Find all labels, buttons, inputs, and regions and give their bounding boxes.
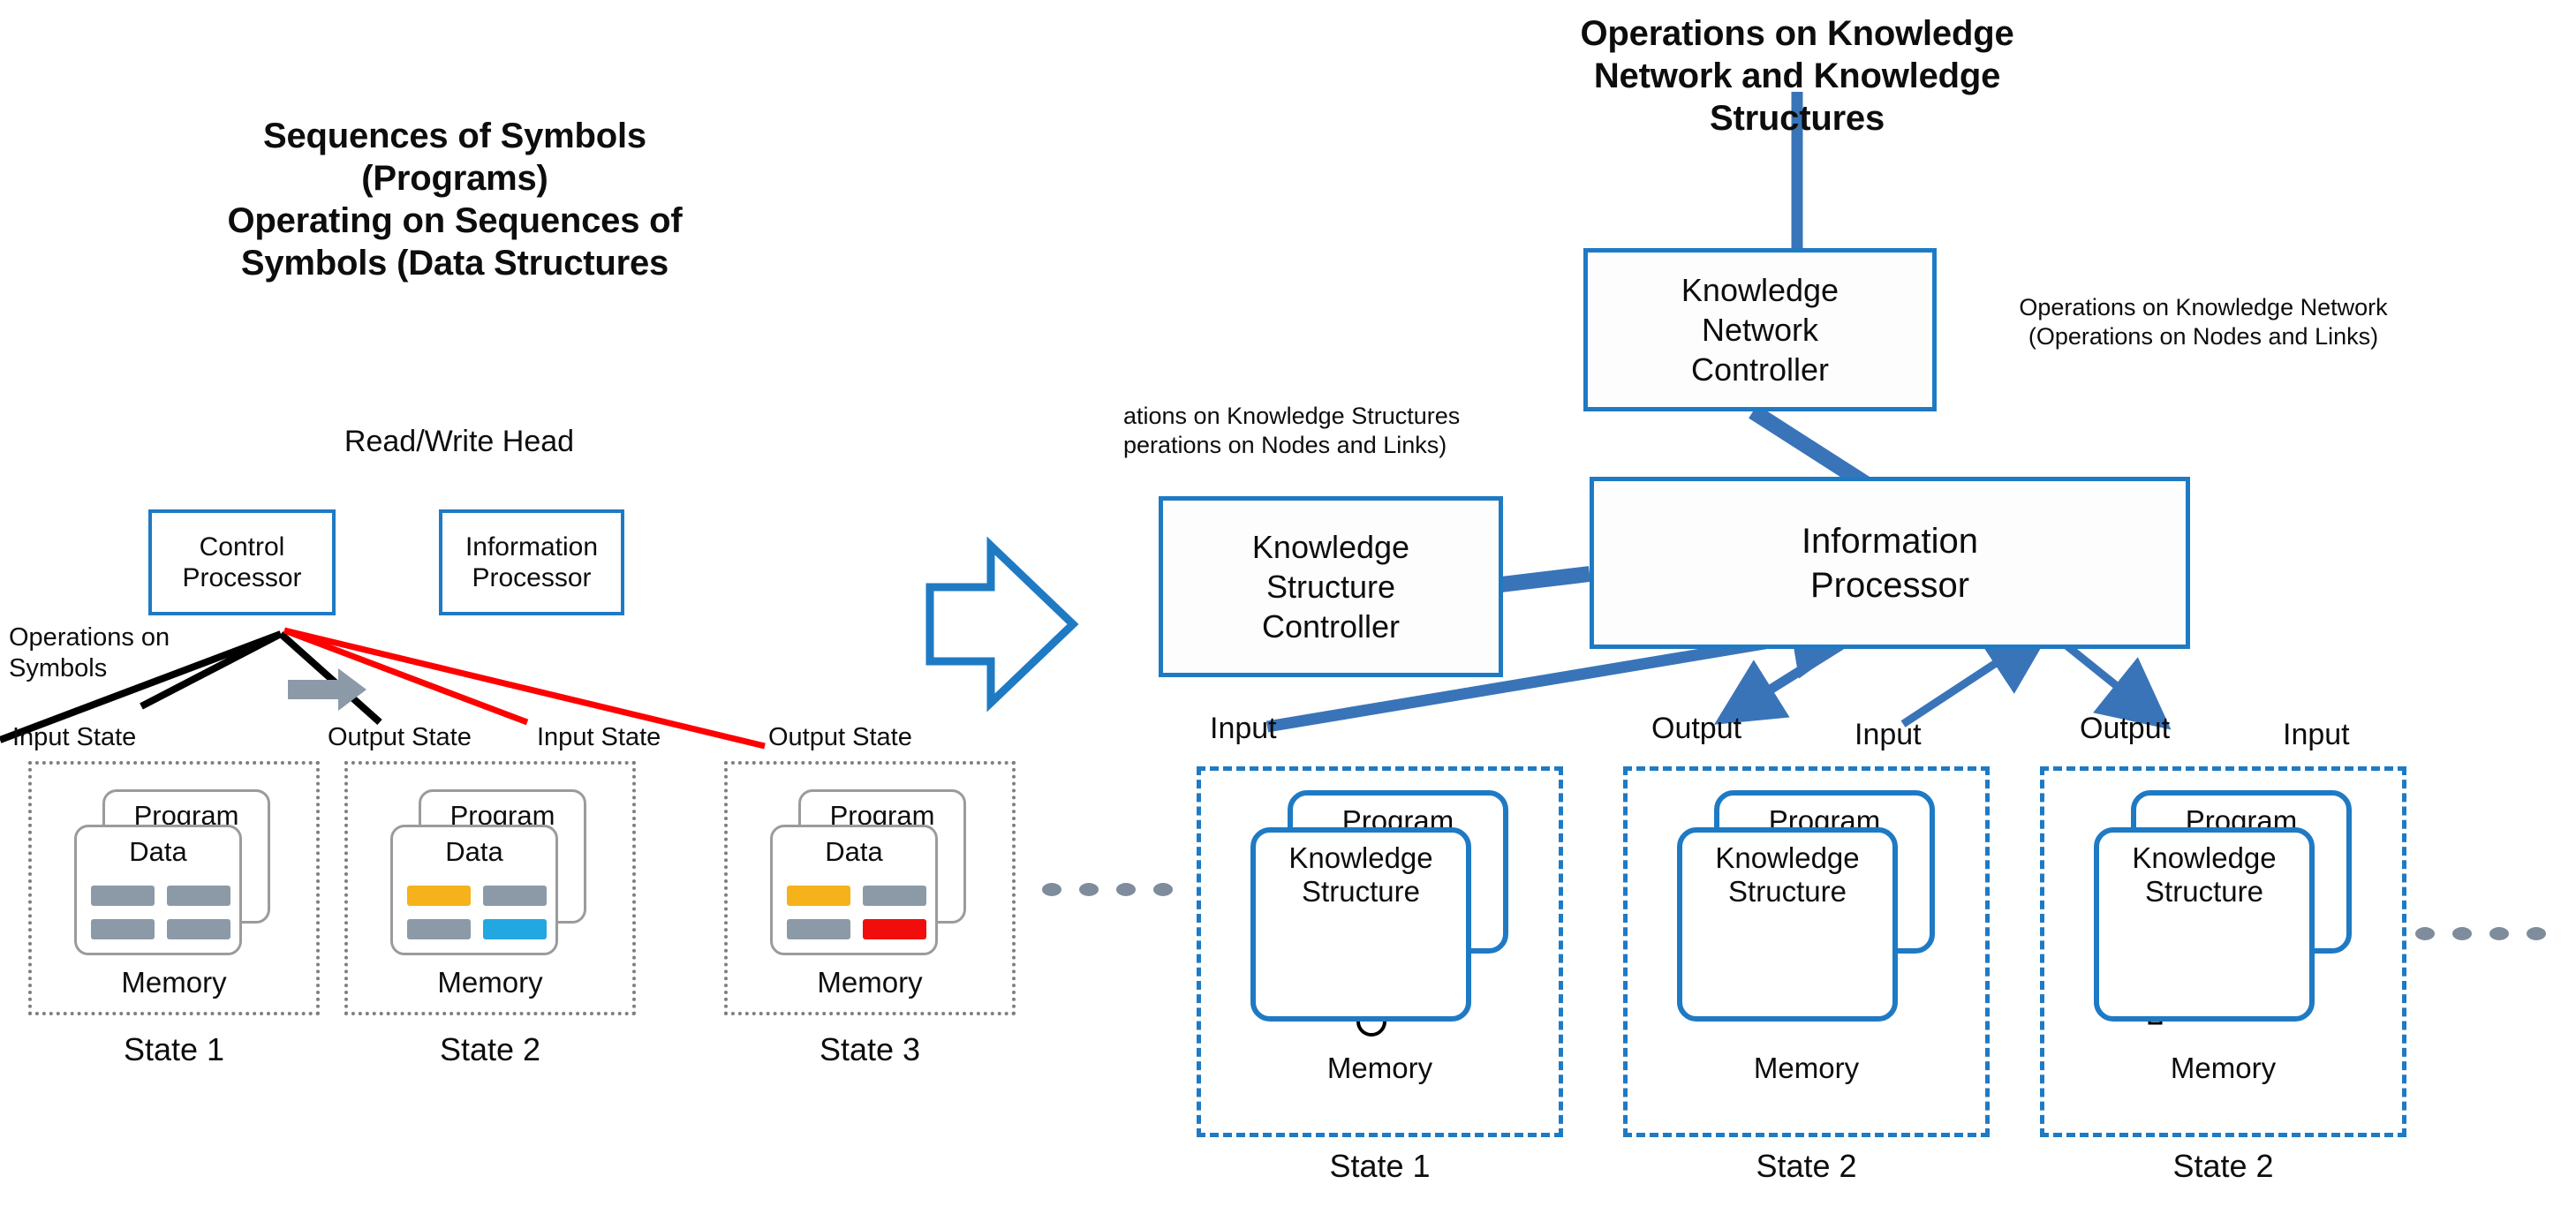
ksc-label-3: Controller [1252,607,1409,646]
diagram-canvas: Sequences of Symbols (Programs) Operatin… [0,0,2576,1214]
information-processor-label-1: Information [465,532,598,562]
left-title-line-1: Sequences of Symbols (Programs) [172,115,737,200]
right-state-box-1[interactable]: Program Knowledge Structure Memory [1197,766,1563,1137]
ellipsis-dot [1153,883,1173,896]
ops-symbols-line-2: Symbols [9,653,274,684]
ip-right-label-1: Information [1802,519,1978,563]
ellipsis-dot [2489,927,2509,940]
memory-label-1: Memory [32,966,316,999]
left-state-box-3[interactable]: Program Data Memory [724,761,1016,1015]
okn-line-2: (Operations on Nodes and Links) [1947,322,2459,351]
ops-symbols-line-1: Operations on [9,622,274,653]
ip-to-state2-red-line [284,630,527,722]
left-state-name-1: State 1 [28,1031,320,1068]
data-bar-2-2 [483,886,547,906]
right-ks-label-1-line-1: Knowledge [1256,841,1466,875]
left-io-label-input-state-1: Input State [12,722,136,753]
data-label-3: Data [773,836,935,868]
memory-label-3: Memory [728,966,1012,999]
information-processor-box-right[interactable]: Information Processor [1590,477,2190,649]
ellipsis-dot [2527,927,2546,940]
right-io-label-output-1: Output [1651,711,1741,746]
right-title-line-1: Operations on Knowledge [1506,12,2089,55]
right-ks-label-1-line-2: Structure [1256,875,1466,909]
right-knowledge-structure-card-2: Knowledge Structure [1677,827,1898,1022]
right-ks-label-2-line-2: Structure [1682,875,1892,909]
right-title-line-2: Network and Knowledge [1506,55,2089,97]
left-title: Sequences of Symbols (Programs) Operatin… [172,115,737,284]
data-card-3: Data [770,825,938,955]
knowledge-structure-controller-box[interactable]: Knowledge Structure Controller [1159,496,1503,677]
right-state-name-1: State 1 [1197,1148,1563,1185]
knc-to-ip-connector [1753,411,1869,486]
data-bar-1-1 [91,886,155,906]
right-ellipsis-icon [2415,927,2546,940]
right-io-label-output-2: Output [2080,711,2170,746]
data-bar-3-1 [787,886,850,906]
data-card-1: Data [74,825,242,955]
oks-line-2: perations on Nodes and Links) [1123,431,1583,460]
data-bar-2-3 [407,919,471,939]
right-ks-label-3: Knowledge Structure [2099,841,2309,908]
right-ks-label-1: Knowledge Structure [1256,841,1466,908]
right-title-line-3: Structures [1506,97,2089,139]
ip-to-state2-line [281,634,380,722]
right-memory-label-1: Memory [1201,1052,1559,1085]
data-bar-2-4 [483,919,547,939]
knc-label-3: Controller [1681,350,1839,389]
left-state-name-3: State 3 [724,1031,1016,1068]
data-bar-2-1 [407,886,471,906]
left-io-label-output-state-2: Output State [768,722,912,753]
ksc-label-2: Structure [1252,567,1409,607]
data-bar-3-3 [787,919,850,939]
transition-arrow-icon [930,546,1073,703]
left-state-box-1[interactable]: Program Data Memory [28,761,320,1015]
operations-on-symbols-label: Operations on Symbols [9,622,274,685]
ellipsis-dot [2452,927,2472,940]
data-bar-1-4 [167,919,230,939]
small-right-arrow-icon [288,668,366,711]
right-state-box-2[interactable]: Program Knowledge Structure Memory [1623,766,1990,1137]
right-ks-label-3-line-2: Structure [2099,875,2309,909]
control-processor-box[interactable]: Control Processor [148,509,336,615]
oks-line-1: ations on Knowledge Structures [1123,402,1583,431]
left-title-line-3: Symbols (Data Structures [172,242,737,284]
ip-right-label-2: Processor [1802,563,1978,607]
operations-on-knowledge-structures-label: ations on Knowledge Structures perations… [1123,402,1583,460]
right-state-name-2: State 2 [1623,1148,1990,1185]
operations-on-knowledge-network-label: Operations on Knowledge Network (Operati… [1947,293,2459,351]
ellipsis-dot [1116,883,1136,896]
right-memory-label-3: Memory [2044,1052,2402,1085]
right-ks-label-2: Knowledge Structure [1682,841,1892,908]
left-state-name-2: State 2 [344,1031,636,1068]
data-card-2: Data [390,825,558,955]
control-processor-label-1: Control [182,532,301,562]
ellipsis-dot [1079,883,1099,896]
information-processor-label-2: Processor [465,562,598,593]
left-ellipsis-icon [1042,883,1173,896]
data-bar-1-3 [91,919,155,939]
left-io-label-output-state-1: Output State [328,722,472,753]
left-io-label-input-state-2: Input State [537,722,661,753]
okn-line-1: Operations on Knowledge Network [1947,293,2459,322]
ellipsis-dot [2415,927,2435,940]
right-ks-label-2-line-1: Knowledge [1682,841,1892,875]
ellipsis-dot [1042,883,1061,896]
knowledge-network-controller-box[interactable]: Knowledge Network Controller [1583,248,1937,411]
right-memory-label-2: Memory [1628,1052,1985,1085]
right-ks-label-3-line-1: Knowledge [2099,841,2309,875]
data-bar-3-4 [863,919,926,939]
right-state-name-3: State 2 [2040,1148,2406,1185]
knc-label-1: Knowledge [1681,270,1839,310]
ksc-label-1: Knowledge [1252,527,1409,567]
control-processor-label-2: Processor [182,562,301,593]
right-io-label-input-1: Input [1210,711,1277,746]
right-state-box-3[interactable]: Program Knowledge Structure Memory [2040,766,2406,1137]
information-processor-box-left[interactable]: Information Processor [439,509,624,615]
right-io-label-input-3: Input [2283,717,2350,752]
data-bar-3-2 [863,886,926,906]
data-label-1: Data [77,836,239,868]
knc-label-2: Network [1681,310,1839,350]
data-label-2: Data [393,836,555,868]
right-io-label-input-2: Input [1855,717,1922,752]
right-title: Operations on Knowledge Network and Know… [1506,12,2089,139]
right-knowledge-structure-card-3: Knowledge Structure [2094,827,2315,1022]
data-bar-1-2 [167,886,230,906]
left-title-line-2: Operating on Sequences of [172,200,737,242]
memory-label-2: Memory [348,966,632,999]
left-state-box-2[interactable]: Program Data Memory [344,761,636,1015]
ksc-to-ip-connector [1501,574,1590,584]
read-write-head-label: Read/Write Head [274,424,645,459]
right-knowledge-structure-card-1: Knowledge Structure [1250,827,1471,1022]
